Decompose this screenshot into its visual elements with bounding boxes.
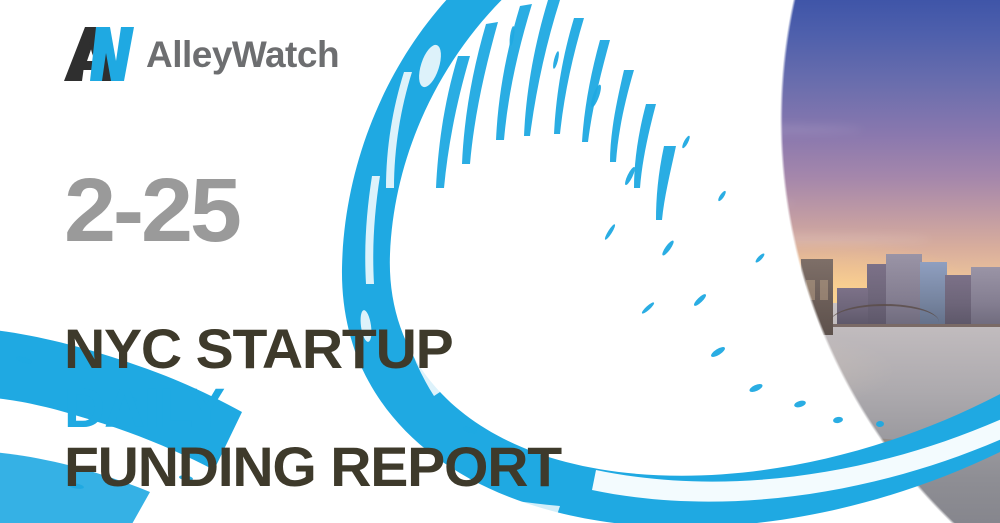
headline-block: NYC STARTUP DAILY FUNDING REPORT: [64, 322, 551, 495]
cloud-wisp: [361, 157, 633, 167]
cloud-wisp: [442, 199, 796, 207]
bridge-cable: [674, 306, 803, 342]
report-date: 2-25: [64, 166, 239, 256]
pier-pavilion: [755, 408, 816, 437]
distant-building: [945, 275, 975, 327]
alleywatch-aw-monogram-icon: [62, 23, 144, 85]
cloud-wisp: [551, 126, 864, 133]
alleywatch-logo[interactable]: AlleyWatch: [62, 18, 339, 90]
crowd-of-people: [728, 390, 823, 393]
funding-report-poster: AlleyWatch 2-25 NYC STARTUP DAILY FUNDIN…: [0, 0, 1000, 523]
headline-line-2: DAILY: [64, 381, 561, 436]
distant-building: [971, 267, 1000, 327]
alleywatch-wordmark: AlleyWatch: [146, 36, 339, 73]
headline-line-1: NYC STARTUP: [64, 322, 561, 377]
headline-line-3: FUNDING REPORT: [64, 440, 561, 495]
bridge-tower: [801, 259, 832, 335]
tree: [640, 408, 674, 450]
